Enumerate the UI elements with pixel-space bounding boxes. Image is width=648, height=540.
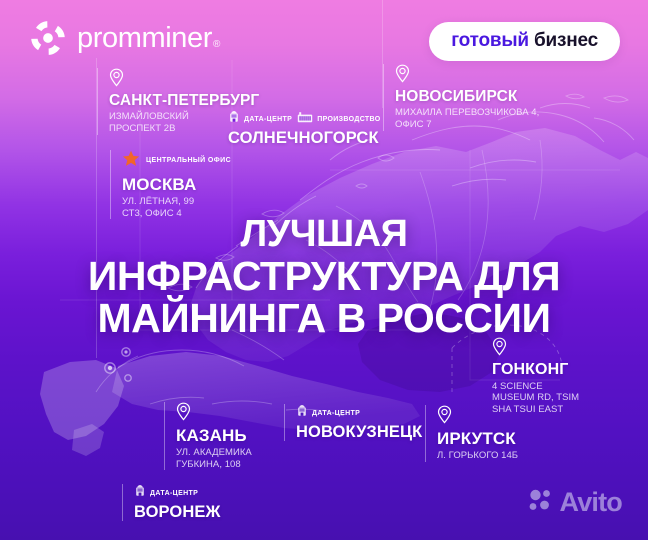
brand-logo[interactable]: promminer®: [30, 20, 220, 56]
ready-business-badge[interactable]: готовый бизнес: [429, 22, 620, 61]
tag-data-center: ДАТА-ЦЕНТР: [296, 404, 360, 422]
city-name: САНКТ-ПЕТЕРБУРГ: [109, 92, 259, 109]
city-name: МОСКВА: [122, 175, 231, 194]
city-name: СОЛНЕЧНОГОРСК: [228, 129, 381, 147]
city-address: 4 SCIENCE MUSEUM RD, TSIM SHA TSUI EAST: [492, 381, 579, 416]
orange-star-icon: [122, 150, 140, 172]
tag-data-center: ДАТА-ЦЕНТР: [228, 110, 292, 128]
central-office-tag: ЦЕНТРАЛЬНЫЙ ОФИС: [122, 150, 231, 172]
city-name: НОВОКУЗНЕЦК: [296, 423, 422, 441]
location-voronezh[interactable]: ДАТА-ЦЕНТР ВОРОНЕЖ: [122, 484, 221, 521]
facility-tags: ДАТА-ЦЕНТР ПРОИЗВОДСТВО: [228, 110, 381, 128]
data-center-icon: [296, 404, 308, 422]
facility-tags: ДАТА-ЦЕНТР: [296, 404, 422, 422]
page-title: ЛУЧШАЯ ИНФРАСТРУКТУРА ДЛЯ МАЙНИНГА В РОС…: [0, 215, 648, 340]
avito-dots-logo-icon: [527, 487, 553, 518]
tag-label: ДАТА-ЦЕНТР: [244, 116, 292, 123]
facility-tags: ДАТА-ЦЕНТР: [134, 484, 221, 502]
location-solnechnogorsk[interactable]: ДАТА-ЦЕНТР ПРОИЗВОДСТВО: [228, 110, 381, 147]
tag-data-center: ДАТА-ЦЕНТР: [134, 484, 198, 502]
brand-logo-text: promminer®: [77, 24, 220, 53]
location-novosibirsk[interactable]: НОВОСИБИРСК МИХАИЛА ПЕРЕВОЗЧИКОВА 4, ОФИ…: [383, 64, 539, 131]
headline-line-3: МАЙНИНГА В РОССИИ: [8, 297, 640, 340]
map-pin-icon: [109, 68, 259, 92]
promo-banner: promminer® готовый бизнес САНКТ-ПЕТЕРБУР…: [0, 0, 648, 540]
promminer-pinwheel-logo-icon: [30, 20, 66, 56]
central-office-label: ЦЕНТРАЛЬНЫЙ ОФИС: [146, 157, 231, 166]
headline-line-2: ИНФРАСТРУКТУРА ДЛЯ: [8, 255, 640, 298]
map-pin-icon: [395, 64, 539, 88]
map-pin-icon: [176, 402, 252, 426]
headline-line-1: ЛУЧШАЯ: [8, 215, 640, 255]
tag-production: ПРОИЗВОДСТВО: [297, 110, 380, 128]
registered-mark: ®: [213, 39, 220, 50]
city-name: ГОНКОНГ: [492, 361, 579, 379]
location-kazan[interactable]: КАЗАНЬ УЛ. АКАДЕМИКА ГУБКИНА, 108: [164, 402, 252, 470]
brand-wordmark: promminer: [77, 22, 212, 54]
city-name: НОВОСИБИРСК: [395, 88, 539, 105]
city-address: Л. ГОРЬКОГО 14Б: [437, 450, 518, 462]
avito-wordmark: Avito: [560, 489, 623, 516]
city-name: КАЗАНЬ: [176, 426, 252, 445]
city-name: ВОРОНЕЖ: [134, 503, 221, 521]
badge-word-gotovyy: готовый: [451, 30, 529, 51]
production-icon: [297, 110, 313, 128]
data-center-icon: [228, 110, 240, 128]
location-hongkong[interactable]: ГОНКОНГ 4 SCIENCE MUSEUM RD, TSIM SHA TS…: [492, 337, 579, 416]
data-center-icon: [134, 484, 146, 502]
location-moscow[interactable]: ЦЕНТРАЛЬНЫЙ ОФИС МОСКВА УЛ. ЛЁТНАЯ, 99 С…: [110, 150, 231, 219]
city-address: УЛ. АКАДЕМИКА ГУБКИНА, 108: [176, 447, 252, 470]
city-name: ИРКУТСК: [437, 429, 518, 448]
avito-watermark: Avito: [527, 487, 623, 518]
badge-word-biznes: бизнес: [534, 30, 598, 51]
tag-label: ДАТА-ЦЕНТР: [150, 490, 198, 497]
city-address: МИХАИЛА ПЕРЕВОЗЧИКОВА 4, ОФИС 7: [395, 107, 539, 130]
tag-label: ПРОИЗВОДСТВО: [317, 116, 380, 123]
location-novokuznetsk[interactable]: ДАТА-ЦЕНТР НОВОКУЗНЕЦК: [284, 404, 422, 441]
tag-label: ДАТА-ЦЕНТР: [312, 410, 360, 417]
